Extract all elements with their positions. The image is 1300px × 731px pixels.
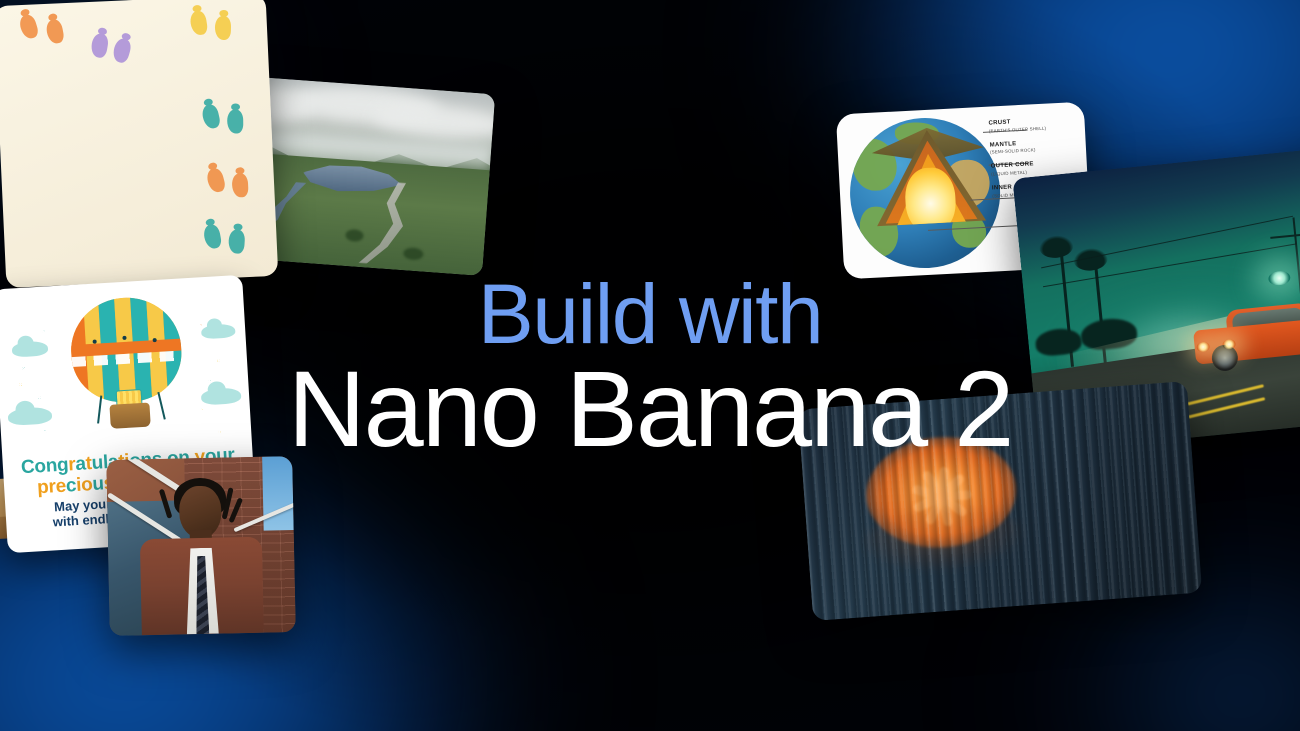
footprint-icon bbox=[232, 173, 249, 198]
footprint-icon bbox=[111, 37, 133, 64]
card-greeting-backer[interactable] bbox=[0, 0, 278, 288]
earth-globe bbox=[846, 114, 1004, 272]
earth-label-crust: CRUST (EARTH'S OUTER SHELL) bbox=[988, 116, 1077, 133]
footprint-icon bbox=[90, 32, 110, 58]
headline-line-1: Build with bbox=[0, 272, 1300, 356]
footprint-icon bbox=[201, 103, 222, 130]
footprint-icon bbox=[215, 16, 232, 40]
footprint-icon bbox=[205, 167, 227, 194]
footprint-icon bbox=[202, 223, 222, 250]
footprint-icon bbox=[45, 18, 65, 45]
footprint-icon bbox=[228, 229, 245, 254]
footprint-icon bbox=[189, 10, 208, 36]
headline-line-2: Nano Banana 2 bbox=[0, 352, 1300, 465]
footprint-icon bbox=[227, 109, 243, 133]
footprint-icon bbox=[18, 13, 40, 41]
earth-label-mantle: MANTLE (SEMI-SOLID ROCK) bbox=[990, 138, 1079, 155]
hero-canvas: CRUST (EARTH'S OUTER SHELL) MANTLE (SEMI… bbox=[0, 0, 1300, 731]
hero-headline: Build with Nano Banana 2 bbox=[0, 272, 1300, 465]
landscape-tree bbox=[345, 228, 364, 241]
earth-layer-inner-core bbox=[904, 167, 957, 234]
card-portrait-photo[interactable] bbox=[106, 456, 296, 636]
